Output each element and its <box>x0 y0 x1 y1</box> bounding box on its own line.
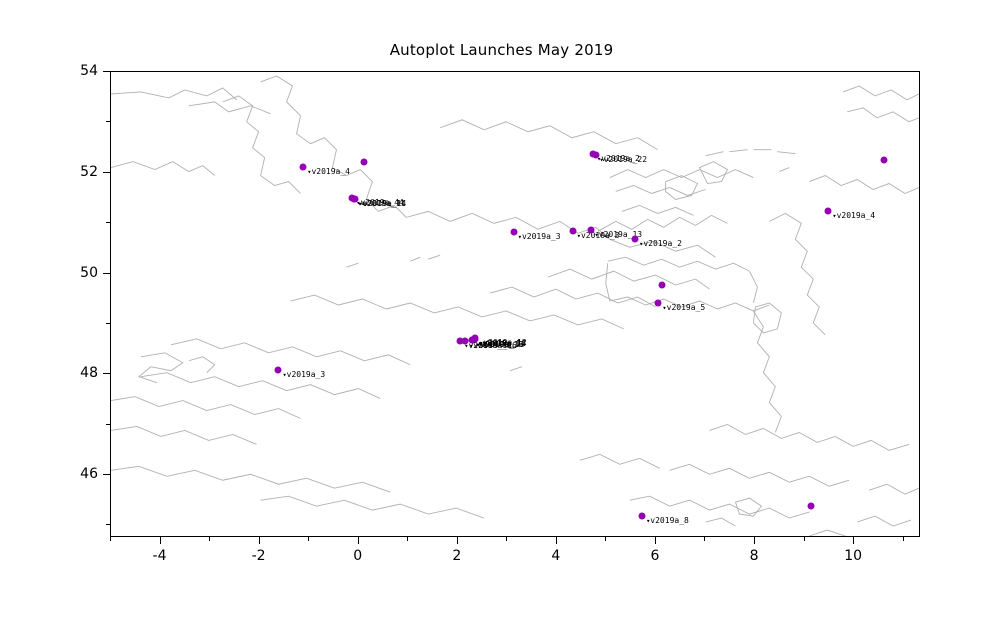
x-minor-tick <box>804 537 805 541</box>
scatter-point <box>360 158 367 165</box>
scatter-point <box>655 299 662 306</box>
y-major-tick <box>103 474 110 475</box>
x-tick-label: 10 <box>844 548 862 564</box>
scatter-point <box>632 236 639 243</box>
y-minor-tick <box>106 524 110 525</box>
y-tick-label: 52 <box>54 164 98 180</box>
point-label: v2019a_2 <box>639 240 682 248</box>
x-minor-tick <box>506 537 507 541</box>
y-tick-label: 48 <box>54 365 98 381</box>
y-major-tick <box>103 273 110 274</box>
scatter-point <box>569 227 576 234</box>
x-minor-tick <box>407 537 408 541</box>
y-tick-label: 50 <box>54 265 98 281</box>
point-label: v2019a_3 <box>282 371 325 379</box>
x-tick-label: -4 <box>153 548 167 564</box>
point-label: v2019a_22 <box>600 156 648 164</box>
scatter-point <box>658 281 665 288</box>
point-label: v2019a_4 <box>832 212 875 220</box>
point-label: v2019a_4 <box>307 168 350 176</box>
scatter-point <box>639 513 646 520</box>
x-minor-tick <box>704 537 705 541</box>
x-minor-tick <box>209 537 210 541</box>
x-tick-label: 2 <box>452 548 461 564</box>
x-major-tick <box>754 537 755 544</box>
x-major-tick <box>655 537 656 544</box>
x-minor-tick <box>605 537 606 541</box>
x-minor-tick <box>308 537 309 541</box>
y-major-tick <box>103 71 110 72</box>
point-label: v2019a_5 <box>662 304 705 312</box>
scatter-point <box>351 196 358 203</box>
x-tick-label: -2 <box>252 548 266 564</box>
x-minor-tick <box>903 537 904 541</box>
scatter-point <box>592 151 599 158</box>
point-label: v2019a_13 <box>464 342 512 350</box>
x-major-tick <box>160 537 161 544</box>
scatter-point <box>510 229 517 236</box>
page-title: Autoplot Launches May 2019 <box>0 41 1003 59</box>
scatter-point <box>457 338 464 345</box>
x-major-tick <box>259 537 260 544</box>
y-minor-tick <box>106 424 110 425</box>
plot-axes: v2019a_4v2019a_44v2019a_11v2019a_14v2019… <box>110 71 920 537</box>
y-minor-tick <box>106 121 110 122</box>
y-major-tick <box>103 172 110 173</box>
y-minor-tick <box>106 222 110 223</box>
x-minor-tick <box>110 537 111 541</box>
y-tick-label: 46 <box>54 466 98 482</box>
scatter-point <box>807 503 814 510</box>
scatter-point <box>587 227 594 234</box>
y-minor-tick <box>106 323 110 324</box>
x-major-tick <box>358 537 359 544</box>
x-tick-label: 0 <box>353 548 362 564</box>
scatter-points-layer: v2019a_4v2019a_44v2019a_11v2019a_14v2019… <box>111 72 919 536</box>
y-major-tick <box>103 373 110 374</box>
scatter-point <box>275 367 282 374</box>
x-tick-label: 4 <box>551 548 560 564</box>
x-major-tick <box>556 537 557 544</box>
scatter-point <box>880 156 887 163</box>
point-label: v2019a_3 <box>518 233 561 241</box>
x-major-tick <box>853 537 854 544</box>
scatter-point <box>825 207 832 214</box>
x-tick-label: 8 <box>750 548 759 564</box>
figure-canvas: Autoplot Launches May 2019 <box>0 0 1003 633</box>
point-label: v2019a_14 <box>359 200 407 208</box>
x-tick-label: 6 <box>650 548 659 564</box>
y-tick-label: 54 <box>54 63 98 79</box>
point-label: v2019a_8 <box>646 517 689 525</box>
x-major-tick <box>457 537 458 544</box>
scatter-point <box>300 163 307 170</box>
